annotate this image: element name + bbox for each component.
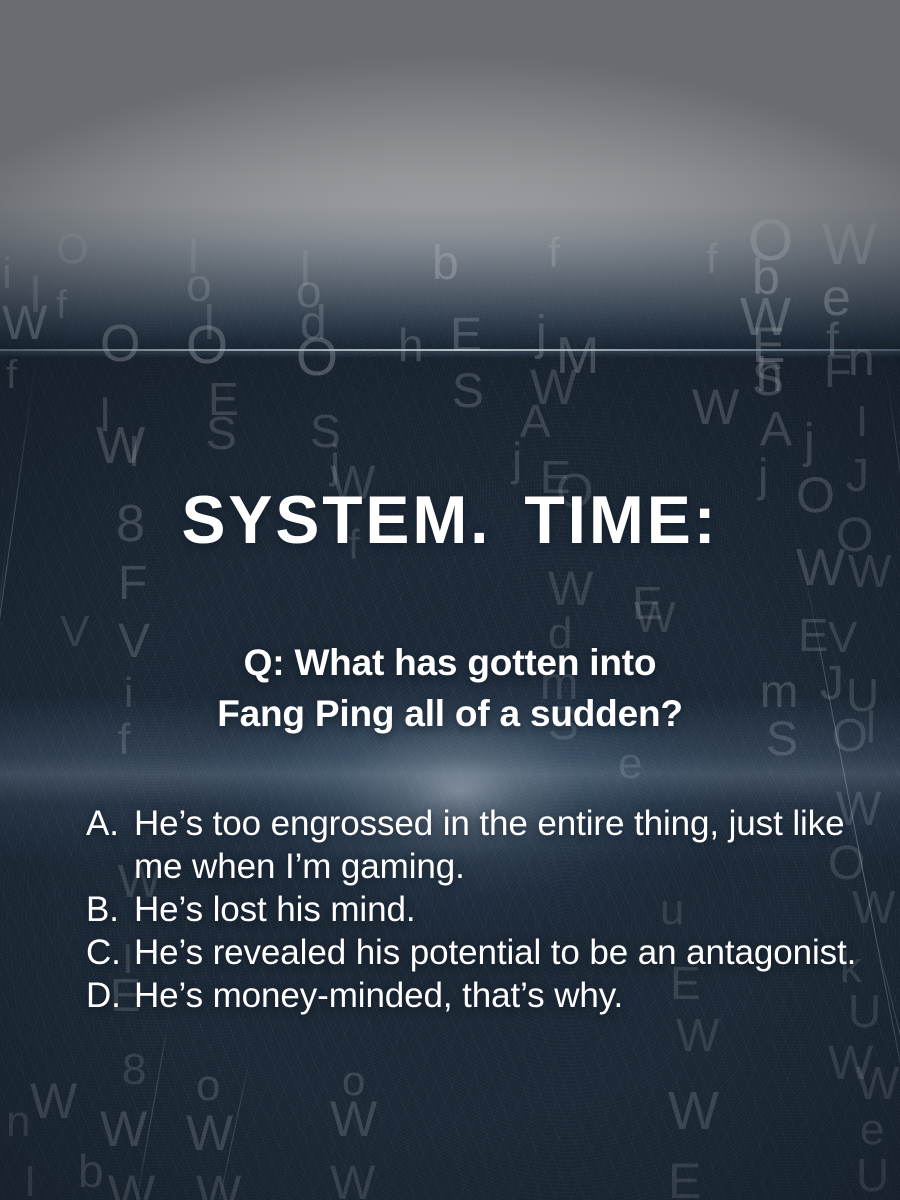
question-text: Q: What has gotten into Fang Ping all of…: [70, 637, 830, 739]
answer-option-text: He’s money-minded, that’s why.: [134, 976, 623, 1015]
slide-content: SYSTEM.TIME: Q: What has gotten into Fan…: [0, 0, 900, 1200]
answer-option-label: D.: [86, 974, 134, 1017]
answer-option-label: B.: [86, 888, 134, 931]
answer-option-text: He’s too engrossed in the entire thing, …: [134, 804, 844, 886]
quiz-slide: iflWfOOlWI8FVifWnWbWIlolOESWIE8oWWlodOSj…: [0, 0, 900, 1200]
answer-option[interactable]: D.He’s money-minded, that’s why.: [86, 974, 876, 1017]
answer-option-label: A.: [86, 802, 134, 845]
answer-options-list: A.He’s too engrossed in the entire thing…: [86, 802, 876, 1017]
title-word-time: TIME:: [524, 486, 718, 554]
answer-option-label: C.: [86, 931, 134, 974]
answer-option[interactable]: B.He’s lost his mind.: [86, 888, 876, 931]
question-line-1: Q: What has gotten into: [70, 637, 830, 688]
slide-title: SYSTEM.TIME:: [14, 486, 887, 554]
title-word-system: SYSTEM.: [182, 486, 492, 554]
answer-option[interactable]: C.He’s revealed his potential to be an a…: [86, 931, 876, 974]
answer-option[interactable]: A.He’s too engrossed in the entire thing…: [86, 802, 876, 888]
answer-option-text: He’s lost his mind.: [134, 890, 415, 929]
answer-option-text: He’s revealed his potential to be an ant…: [134, 933, 856, 972]
question-line-2: Fang Ping all of a sudden?: [70, 688, 830, 739]
